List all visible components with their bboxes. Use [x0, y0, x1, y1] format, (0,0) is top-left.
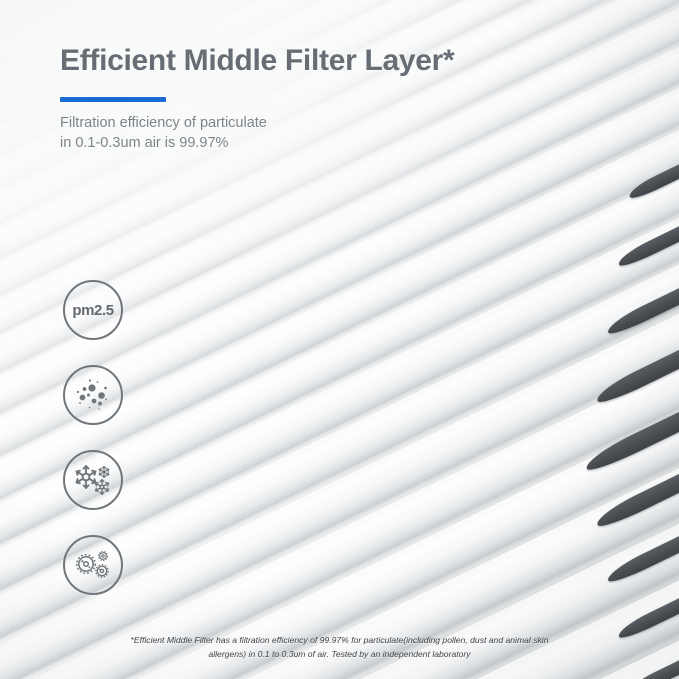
carbon-pleat-tip: [615, 225, 679, 270]
dust-particles-icon: [73, 378, 113, 412]
carbon-pleat-tip: [604, 287, 679, 339]
page-title: Efficient Middle Filter Layer*: [60, 44, 454, 78]
product-feature-image: Efficient Middle Filter Layer* Filtratio…: [0, 0, 679, 679]
carbon-pleat-tip: [593, 473, 679, 531]
pm25-text-icon: pm2.5: [72, 302, 113, 319]
badge-bacteria: [63, 535, 123, 595]
page-subtitle: Filtration efficiency of particulate in …: [60, 113, 267, 153]
carbon-pleat-tip: [582, 411, 679, 475]
badge-pm25: pm2.5: [63, 280, 123, 340]
badge-pollen: [63, 450, 123, 510]
carbon-pleat-tip: [615, 597, 679, 642]
carbon-pleat-tip: [626, 163, 679, 202]
carbon-pleat-tip: [604, 535, 679, 587]
footnote-disclaimer: *Efficient Middle Filter has a filtratio…: [70, 634, 609, 661]
feature-badge-list: pm2.5: [63, 280, 123, 620]
title-accent-bar: [60, 97, 166, 102]
badge-dust: [63, 365, 123, 425]
snowflake-pollen-icon: [72, 462, 114, 498]
gear-bacteria-icon: [72, 547, 114, 583]
carbon-pleat-tip: [593, 349, 679, 407]
carbon-pleat-tip: [626, 659, 679, 679]
